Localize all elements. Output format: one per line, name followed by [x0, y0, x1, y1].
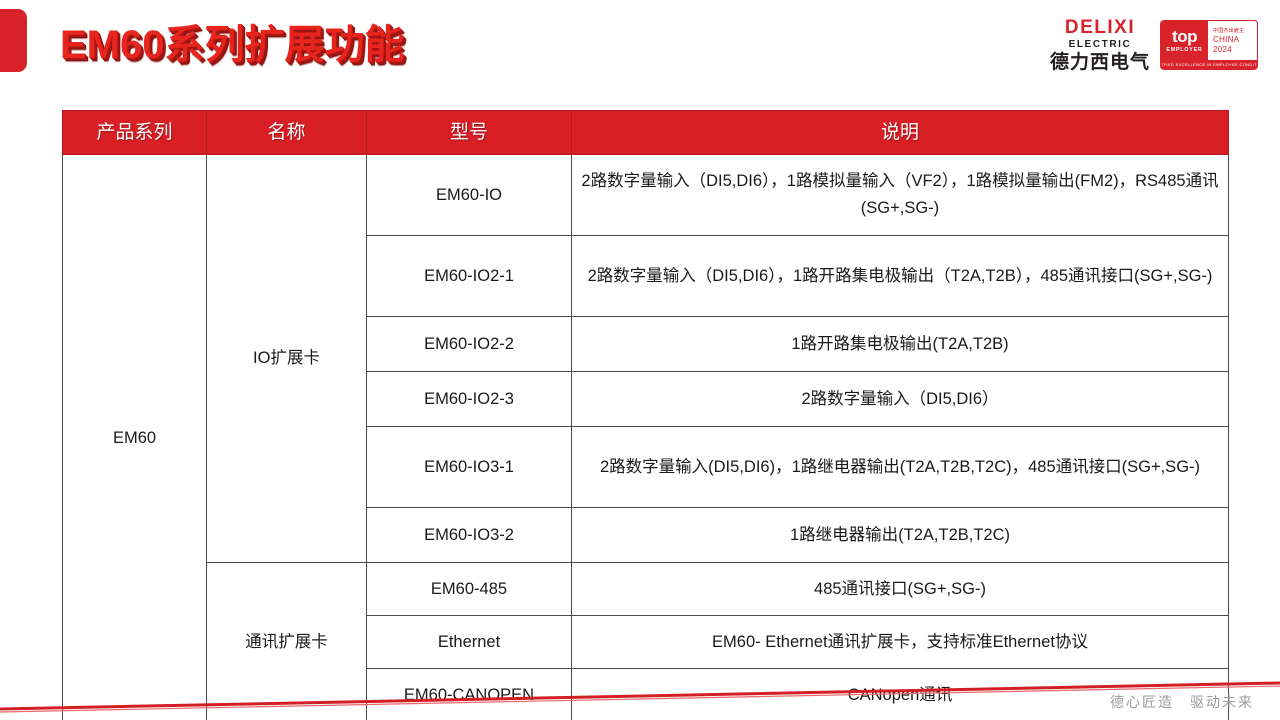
slide-canvas: EM60系列扩展功能 DELIXI ELECTRIC 德力西电气 top EMP… [0, 0, 1280, 720]
cell-description: 2路数字量输入（DI5,DI6），1路模拟量输入（VF2），1路模拟量输出(FM… [572, 155, 1229, 236]
cell-product-series: EM60 [63, 155, 207, 720]
brand-name-cn: 德力西电气 [1050, 53, 1150, 72]
badge-main: top EMPLOYER 中国杰出雇主 CHINA 2024 [1161, 21, 1257, 60]
brand-name: DELIXI [1065, 18, 1135, 37]
badge-year: 2024 [1213, 45, 1257, 55]
footer-slogan: 德心匠造 驱动未来 [1110, 692, 1254, 712]
column-header-description: 说明 [572, 111, 1229, 155]
cell-model: EM60-485 [367, 563, 572, 616]
cell-group-name-io: IO扩展卡 [207, 155, 367, 563]
badge-employer-text: EMPLOYER [1166, 47, 1202, 53]
table-row: 通讯扩展卡 EM60-485 485通讯接口(SG+,SG-) [63, 563, 1229, 616]
cell-description: 1路开路集电极输出(T2A,T2B) [572, 317, 1229, 372]
cell-model: EM60-IO2-2 [367, 317, 572, 372]
cell-model: EM60-IO3-1 [367, 427, 572, 508]
brand-subtitle: ELECTRIC [1069, 40, 1132, 50]
spec-table: 产品系列 名称 型号 说明 EM60 IO扩展卡 EM60-IO 2路数字量输入… [62, 110, 1229, 720]
cell-description: 485通讯接口(SG+,SG-) [572, 563, 1229, 616]
cell-model: EM60-IO [367, 155, 572, 236]
cell-group-name-comm: 通讯扩展卡 [207, 563, 367, 720]
badge-country: CHINA [1213, 35, 1257, 45]
badge-strip-text: CERTIFIED EXCELLENCE IN EMPLOYEE CONDITI… [1161, 60, 1257, 69]
top-employer-badge: top EMPLOYER 中国杰出雇主 CHINA 2024 CERTIFIED… [1160, 20, 1258, 70]
cell-model: EM60-IO3-2 [367, 508, 572, 563]
table-row: EM60 IO扩展卡 EM60-IO 2路数字量输入（DI5,DI6），1路模拟… [63, 155, 1229, 236]
logo-area: DELIXI ELECTRIC 德力西电气 top EMPLOYER 中国杰出雇… [1050, 18, 1258, 72]
cell-description: EM60- Ethernet通讯扩展卡，支持标准Ethernet协议 [572, 616, 1229, 669]
cell-description: 2路数字量输入（DI5,DI6） [572, 372, 1229, 427]
cell-model: Ethernet [367, 616, 572, 669]
cell-model: EM60-IO2-3 [367, 372, 572, 427]
table-header-row: 产品系列 名称 型号 说明 [63, 111, 1229, 155]
cell-model: EM60-IO2-1 [367, 236, 572, 317]
badge-cn-line: 中国杰出雇主 [1213, 27, 1257, 35]
badge-mark: top EMPLOYER [1161, 21, 1208, 60]
column-header-series: 产品系列 [63, 111, 207, 155]
cell-description: 2路数字量输入(DI5,DI6)，1路继电器输出(T2A,T2B,T2C)，48… [572, 427, 1229, 508]
delixi-logo: DELIXI ELECTRIC 德力西电气 [1050, 18, 1150, 72]
badge-top-text: top [1172, 29, 1197, 45]
column-header-name: 名称 [207, 111, 367, 155]
cell-description: 1路继电器输出(T2A,T2B,T2C) [572, 508, 1229, 563]
page-title: EM60系列扩展功能 [60, 19, 405, 71]
cell-model: EM60-CANOPEN [367, 669, 572, 720]
badge-info: 中国杰出雇主 CHINA 2024 [1208, 21, 1257, 60]
spec-table-wrapper: 产品系列 名称 型号 说明 EM60 IO扩展卡 EM60-IO 2路数字量输入… [62, 110, 1228, 720]
cell-description: 2路数字量输入（DI5,DI6），1路开路集电极输出（T2A,T2B），485通… [572, 236, 1229, 317]
title-accent-bar [0, 9, 27, 72]
column-header-model: 型号 [367, 111, 572, 155]
